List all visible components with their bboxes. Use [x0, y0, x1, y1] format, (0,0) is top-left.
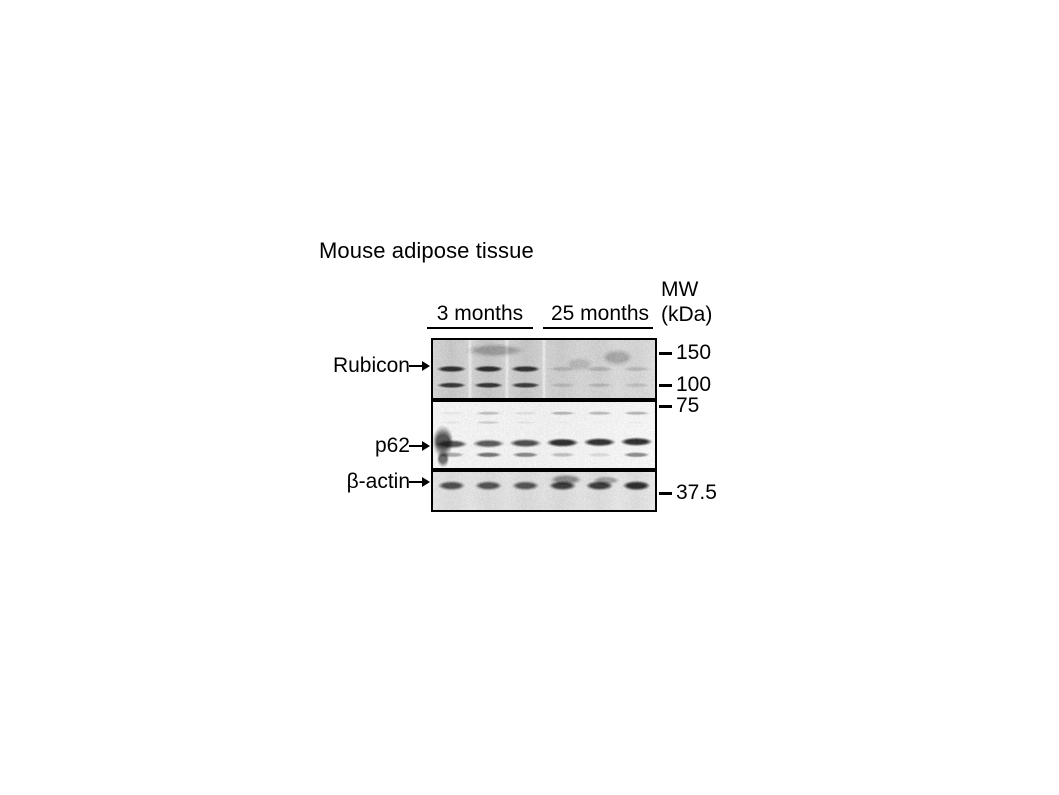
blot-image-rubicon	[433, 340, 655, 398]
mw-tick-37-5	[659, 492, 672, 495]
mw-value-37-5: 37.5	[676, 482, 717, 504]
mw-header-line2: (kDa)	[661, 302, 712, 327]
western-blot-figure: Mouse adipose tissue 3 months 25 months …	[0, 0, 1059, 795]
blot-panel-beta-actin	[431, 470, 657, 512]
blot-image-p62	[433, 402, 655, 468]
group-header-label: 25 months	[537, 302, 663, 326]
mw-tick-150	[659, 352, 672, 355]
row-label-rubicon: Rubicon	[200, 354, 410, 378]
figure-title: Mouse adipose tissue	[319, 238, 534, 264]
blot-panel-p62	[431, 400, 657, 470]
right-arrow-icon	[409, 439, 431, 453]
group-underline-3-months	[427, 327, 533, 329]
row-label-beta-actin: β-actin	[220, 470, 410, 494]
blot-panel-rubicon	[431, 338, 657, 400]
mw-value-100: 100	[676, 374, 711, 396]
right-arrow-icon	[409, 359, 431, 373]
group-header-3-months: 3 months	[421, 302, 539, 326]
mw-header-line1: MW	[661, 278, 698, 301]
row-label-p62: p62	[230, 434, 410, 458]
mw-header: MW (kDa)	[661, 277, 712, 327]
right-arrow-icon	[409, 475, 431, 489]
blot-image-beta-actin	[433, 472, 655, 510]
mw-value-150: 150	[676, 342, 711, 364]
mw-tick-100	[659, 384, 672, 387]
group-header-label: 3 months	[421, 302, 539, 326]
mw-value-75: 75	[676, 395, 699, 417]
mw-tick-75	[659, 405, 672, 408]
group-underline-25-months	[543, 327, 653, 329]
group-header-25-months: 25 months	[537, 302, 663, 326]
